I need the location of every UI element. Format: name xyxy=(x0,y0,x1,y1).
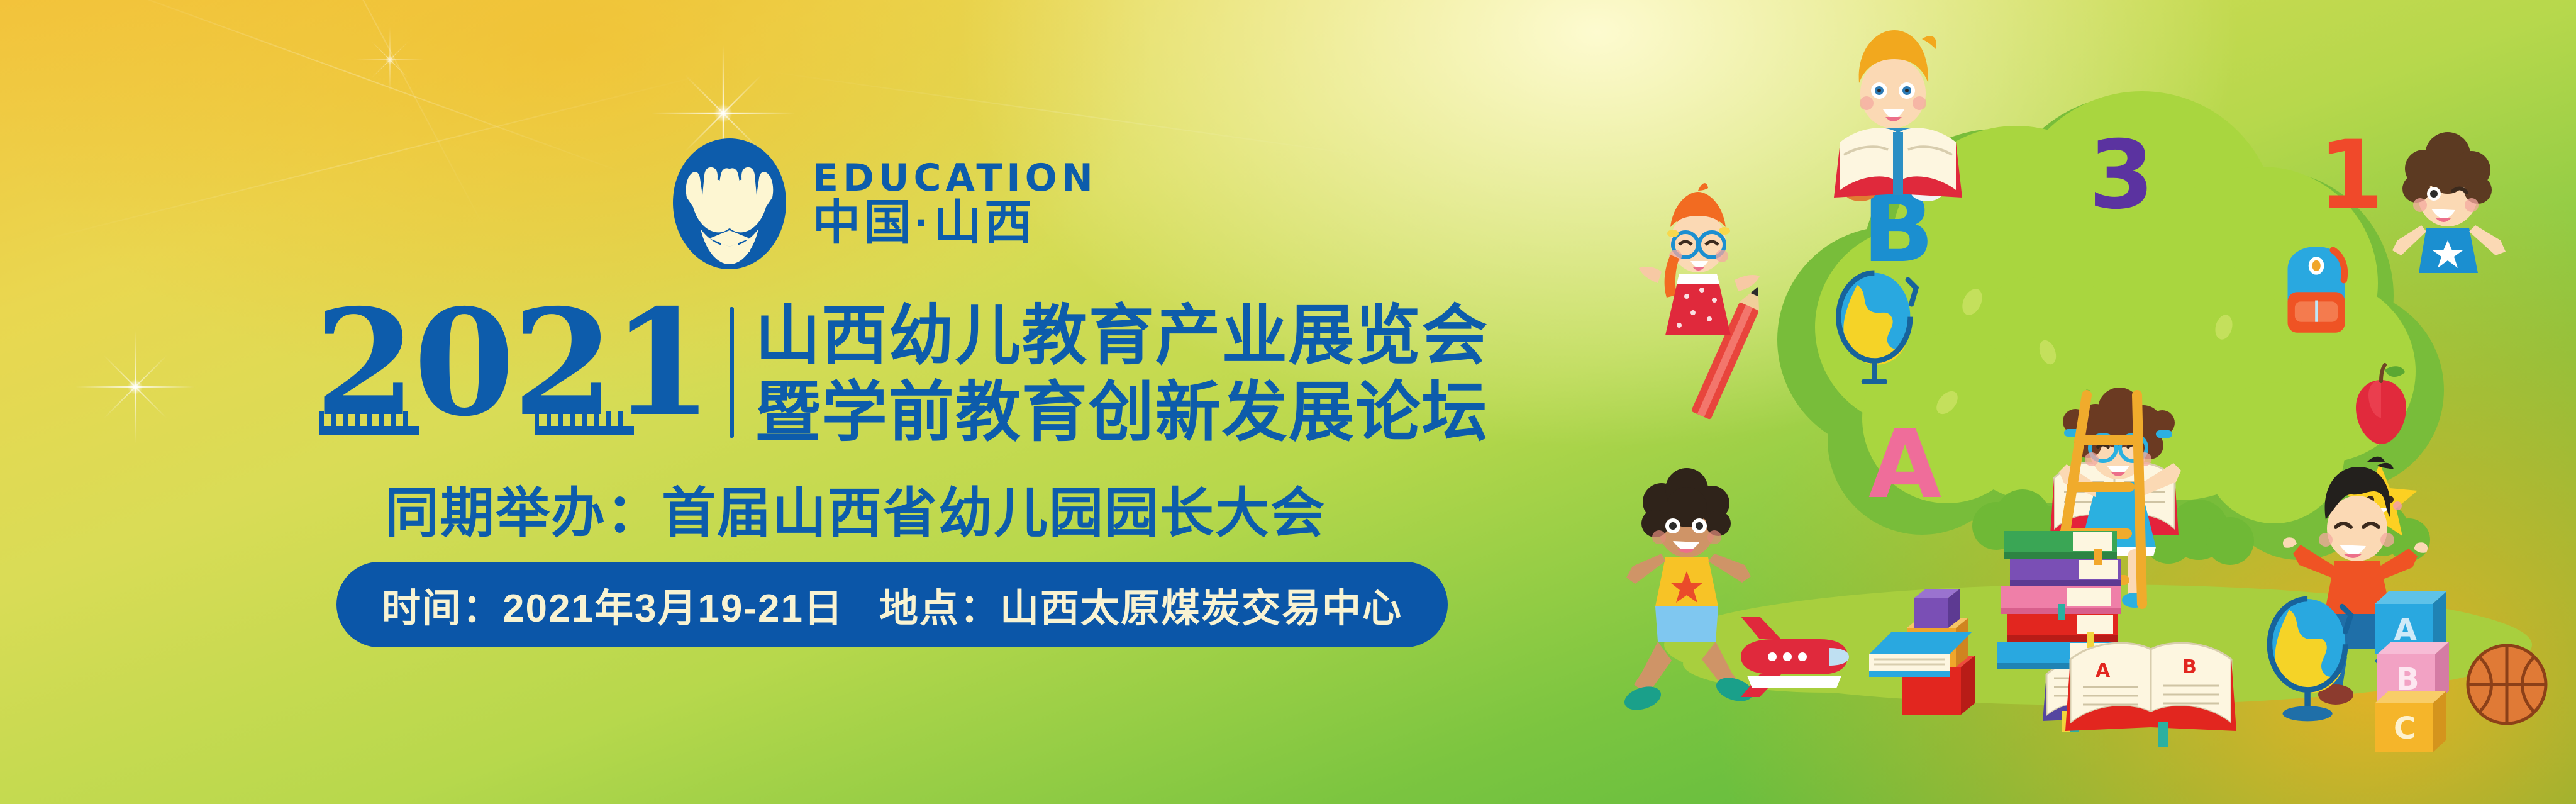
svg-text:A: A xyxy=(2096,660,2111,682)
title-line-2: 暨学前教育创新发展论坛 xyxy=(755,376,1489,449)
curly-hair-boy-blue-shirt xyxy=(2392,132,2506,273)
tree-letter-A: A xyxy=(1868,410,1941,520)
hands-holding-star-icon xyxy=(668,137,791,271)
svg-text:B: B xyxy=(2182,656,2197,678)
logo-english-text: EDUCATION xyxy=(813,159,1097,197)
logo-chinese-text: 中国·山西 xyxy=(813,198,1097,248)
title-line-1: 山西幼儿教育产业展览会 xyxy=(755,299,1489,372)
blue-backpack-icon xyxy=(2288,247,2345,333)
tree-number-1: 1 xyxy=(2318,121,2384,230)
event-logo: EDUCATION 中国·山西 xyxy=(668,137,1097,271)
illustration-svg: B 3 1 A xyxy=(1620,0,2576,804)
place-label: 地点： xyxy=(879,576,1000,633)
event-info-pill: 时间： 2021年3月19-21日 地点： 山西太原煤炭交易中心 xyxy=(336,562,1448,647)
boy-reading-red-book xyxy=(1834,30,1962,201)
ruler-baseline-right xyxy=(535,426,634,435)
alphabet-blocks-abc: A B C xyxy=(2375,591,2449,752)
tree-number-3: 3 xyxy=(2089,121,2154,230)
title-group: 山西幼儿教育产业展览会 暨学前教育创新发展论坛 xyxy=(755,296,1489,450)
vertical-divider xyxy=(730,307,734,438)
block-letter-C: C xyxy=(2394,711,2416,746)
year-2021: 2021 xyxy=(314,296,711,430)
ruler-baseline-left xyxy=(319,426,419,435)
big-open-book-with-letters: A B xyxy=(2065,643,2236,747)
time-label: 时间： xyxy=(382,576,502,633)
place-value: 山西太原煤炭交易中心 xyxy=(1000,576,1402,633)
banner-text-block: EDUCATION 中国·山西 2021 山西幼儿教育产业展览会 暨学前教育创新… xyxy=(0,0,1446,804)
basketball-icon xyxy=(2468,645,2546,723)
event-banner: EDUCATION 中国·山西 2021 山西幼儿教育产业展览会 暨学前教育创新… xyxy=(0,0,2576,804)
headline-row: 2021 山西幼儿教育产业展览会 暨学前教育创新发展论坛 xyxy=(314,296,1489,450)
children-illustration: B 3 1 A xyxy=(1620,0,2576,804)
logo-wordmark: EDUCATION 中国·山西 xyxy=(813,159,1097,248)
time-value: 2021年3月19-21日 xyxy=(502,576,844,633)
subtitle-text: 同期举办：首届山西省幼儿园园长大会 xyxy=(385,469,1326,547)
